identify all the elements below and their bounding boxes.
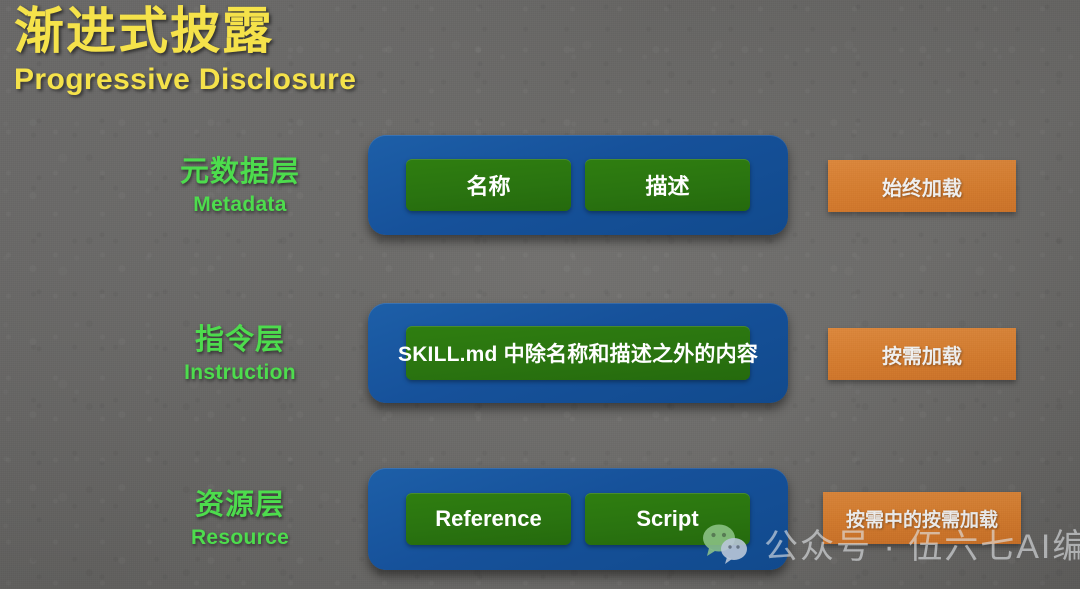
chip-skill-md-content[interactable]: SKILL.md 中除名称和描述之外的内容 (406, 326, 750, 380)
layer-row-resource: 资源层 Resource Reference Script (0, 468, 1080, 588)
layer-label-instruction: 指令层 Instruction (120, 321, 360, 386)
layer-label-en: Resource (120, 524, 360, 551)
page-title: 渐进式披露 Progressive Disclosure (14, 2, 356, 98)
layer-label-cn: 资源层 (120, 486, 360, 524)
layer-label-cn: 指令层 (120, 321, 360, 359)
layer-label-cn: 元数据层 (120, 153, 360, 191)
layer-container-instruction: SKILL.md 中除名称和描述之外的内容 (368, 303, 788, 403)
page-title-en: Progressive Disclosure (14, 62, 356, 98)
layer-row-instruction: 指令层 Instruction SKILL.md 中除名称和描述之外的内容 (0, 303, 1080, 423)
layer-row-metadata: 元数据层 Metadata 名称 描述 (0, 135, 1080, 255)
chip-name[interactable]: 名称 (406, 159, 571, 211)
chip-reference[interactable]: Reference (406, 493, 571, 545)
layer-label-en: Instruction (120, 359, 360, 386)
chip-description[interactable]: 描述 (585, 159, 750, 211)
page-title-cn: 渐进式披露 (14, 2, 356, 60)
layer-label-en: Metadata (120, 191, 360, 218)
layer-label-resource: 资源层 Resource (120, 486, 360, 551)
layer-container-resource: Reference Script (368, 468, 788, 570)
slide-canvas: 渐进式披露 Progressive Disclosure 元数据层 Metada… (0, 0, 1080, 589)
layer-container-metadata: 名称 描述 (368, 135, 788, 235)
chip-script[interactable]: Script (585, 493, 750, 545)
layer-label-metadata: 元数据层 Metadata (120, 153, 360, 218)
